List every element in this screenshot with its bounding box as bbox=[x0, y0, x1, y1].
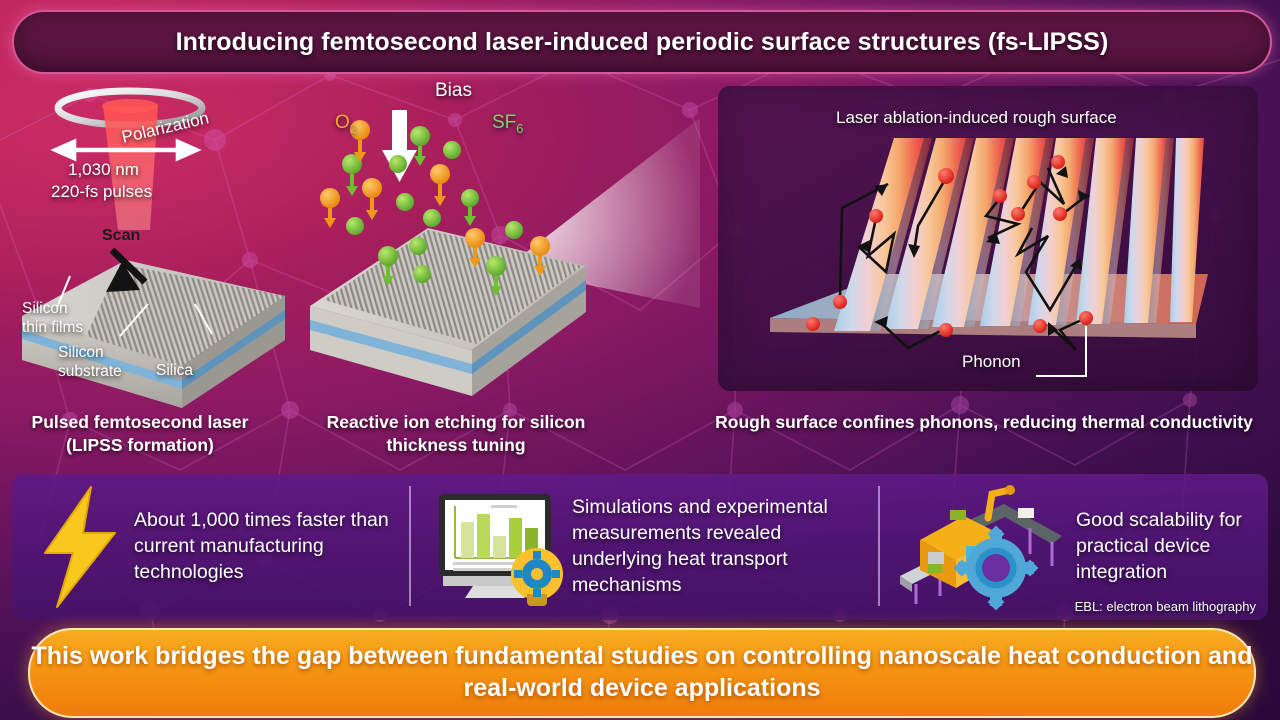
label-phonon: Phonon bbox=[962, 352, 1021, 372]
factory-gear-icon bbox=[890, 484, 1076, 610]
feature-strip: About 1,000 times faster than current ma… bbox=[12, 474, 1268, 620]
label-silicon-substrate: Silicon substrate bbox=[58, 344, 154, 381]
monitor-chart-lightbulb-icon bbox=[430, 488, 572, 606]
diagram-panels: Polarization 1,030 nm 220-fs pulses Scan… bbox=[0, 78, 1280, 408]
panel-rough-surface: Laser ablation-induced rough surface Pho… bbox=[718, 86, 1258, 391]
label-rough-surface-heading: Laser ablation-induced rough surface bbox=[836, 108, 1117, 128]
panel-pulsed-laser: Polarization 1,030 nm 220-fs pulses Scan… bbox=[0, 78, 300, 408]
feature-item-speed: About 1,000 times faster than current ma… bbox=[26, 474, 410, 620]
feature-item-simulations: Simulations and experimental measurement… bbox=[430, 474, 880, 620]
infographic-canvas: Introducing femtosecond laser-induced pe… bbox=[0, 0, 1280, 720]
phonon-scattering-illustration bbox=[718, 86, 1258, 391]
caption-etching: Reactive ion etching for silicon thickne… bbox=[300, 411, 612, 457]
footnote-ebl: EBL: electron beam lithography bbox=[1075, 599, 1256, 614]
label-silicon-thin-films: Silicon thin films bbox=[22, 300, 118, 337]
label-gas-o2: O2 bbox=[335, 112, 357, 136]
page-title: Introducing femtosecond laser-induced pe… bbox=[176, 28, 1109, 57]
panel-reactive-ion-etching: Bias O2 SF6 bbox=[300, 78, 700, 408]
label-pulse-duration: 220-fs pulses bbox=[51, 182, 152, 202]
label-bias: Bias bbox=[435, 80, 472, 103]
label-wavelength: 1,030 nm bbox=[68, 160, 139, 180]
feature-text-speed: About 1,000 times faster than current ma… bbox=[134, 508, 398, 586]
label-silica: Silica bbox=[156, 362, 193, 381]
title-banner: Introducing femtosecond laser-induced pe… bbox=[12, 10, 1272, 74]
label-gas-sf6: SF6 bbox=[492, 112, 524, 136]
feature-text-simulations: Simulations and experimental measurement… bbox=[572, 495, 872, 599]
lightning-bolt-icon bbox=[26, 485, 134, 609]
panel-captions: Pulsed femtosecond laser (LIPSS formatio… bbox=[0, 408, 1280, 470]
conclusion-text: This work bridges the gap between fundam… bbox=[30, 641, 1254, 705]
label-scan: Scan bbox=[102, 227, 140, 245]
conclusion-banner: This work bridges the gap between fundam… bbox=[28, 628, 1256, 718]
caption-laser: Pulsed femtosecond laser (LIPSS formatio… bbox=[10, 411, 270, 457]
feature-text-scalability: Good scalability for practical device in… bbox=[1076, 508, 1262, 586]
caption-rough-surface: Rough surface confines phonons, reducing… bbox=[700, 411, 1268, 434]
